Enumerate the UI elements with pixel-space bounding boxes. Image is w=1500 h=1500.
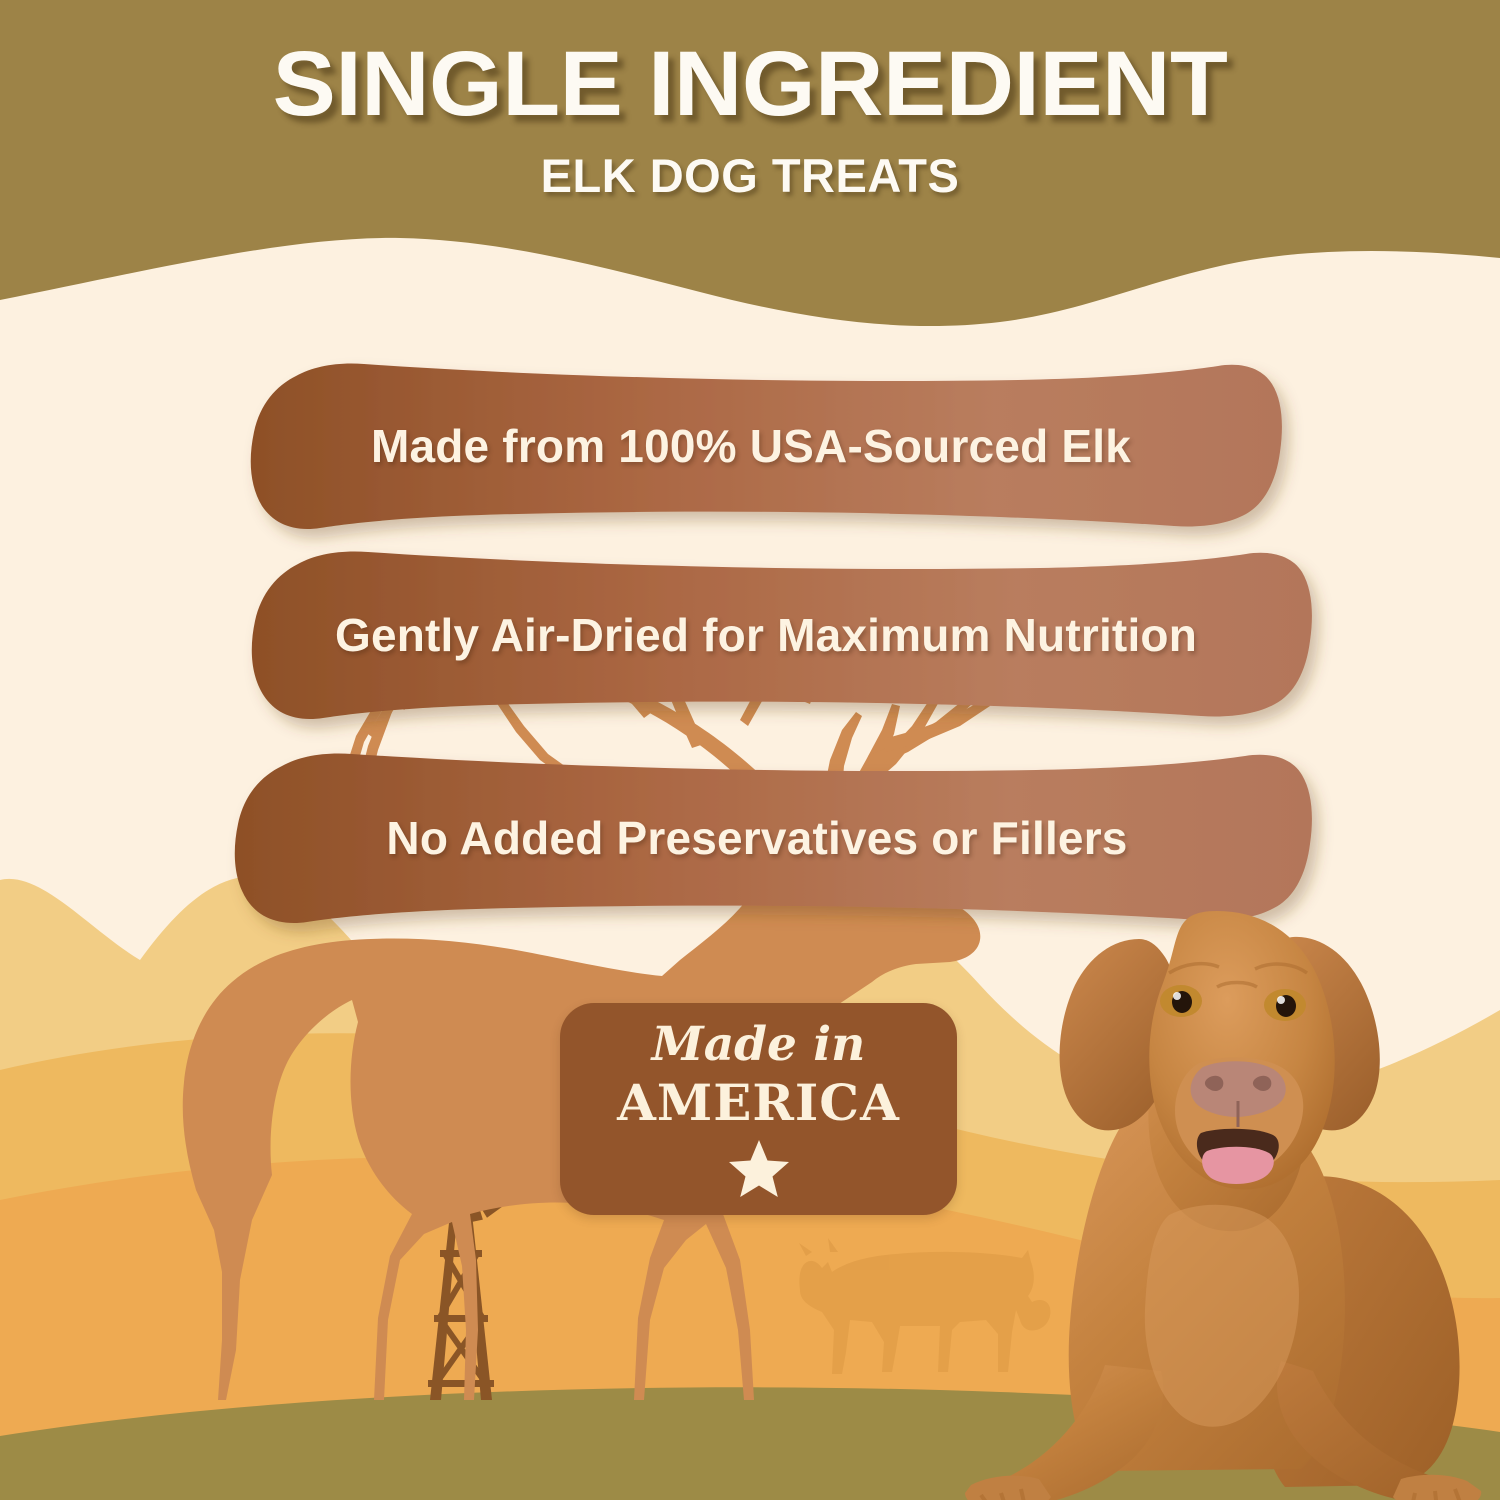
page-title: SINGLE INGREDIENT: [0, 38, 1500, 132]
dog-eye-left-glint: [1173, 992, 1181, 1000]
feature-banner-1-label: Made from 100% USA-Sourced Elk: [371, 419, 1131, 473]
dog-front-paw-left: [965, 1476, 1051, 1500]
windmill-icon: [402, 1107, 519, 1400]
feature-banner-1[interactable]: Made from 100% USA-Sourced Elk: [218, 358, 1284, 534]
star-icon: [728, 1138, 790, 1198]
badge-line-america: AMERICA: [617, 1078, 900, 1128]
feature-banner-2-label: Gently Air-Dried for Maximum Nutrition: [335, 608, 1197, 662]
product-feature-poster: SINGLE INGREDIENT ELK DOG TREATS Made fr…: [0, 0, 1500, 1500]
header-text-group: SINGLE INGREDIENT ELK DOG TREATS: [0, 38, 1500, 203]
feature-banner-3-label: No Added Preservatives or Fillers: [386, 811, 1127, 865]
hill-light-left: [0, 876, 600, 1500]
badge-line-made-in: Made in: [652, 1021, 866, 1068]
vizsla-dog-photo: [955, 895, 1500, 1500]
feature-banner-2[interactable]: Gently Air-Dried for Maximum Nutrition: [218, 546, 1314, 724]
dog-eye-right-glint: [1277, 996, 1285, 1004]
page-subtitle: ELK DOG TREATS: [0, 148, 1500, 203]
made-in-america-badge[interactable]: Made in AMERICA: [560, 1003, 957, 1215]
